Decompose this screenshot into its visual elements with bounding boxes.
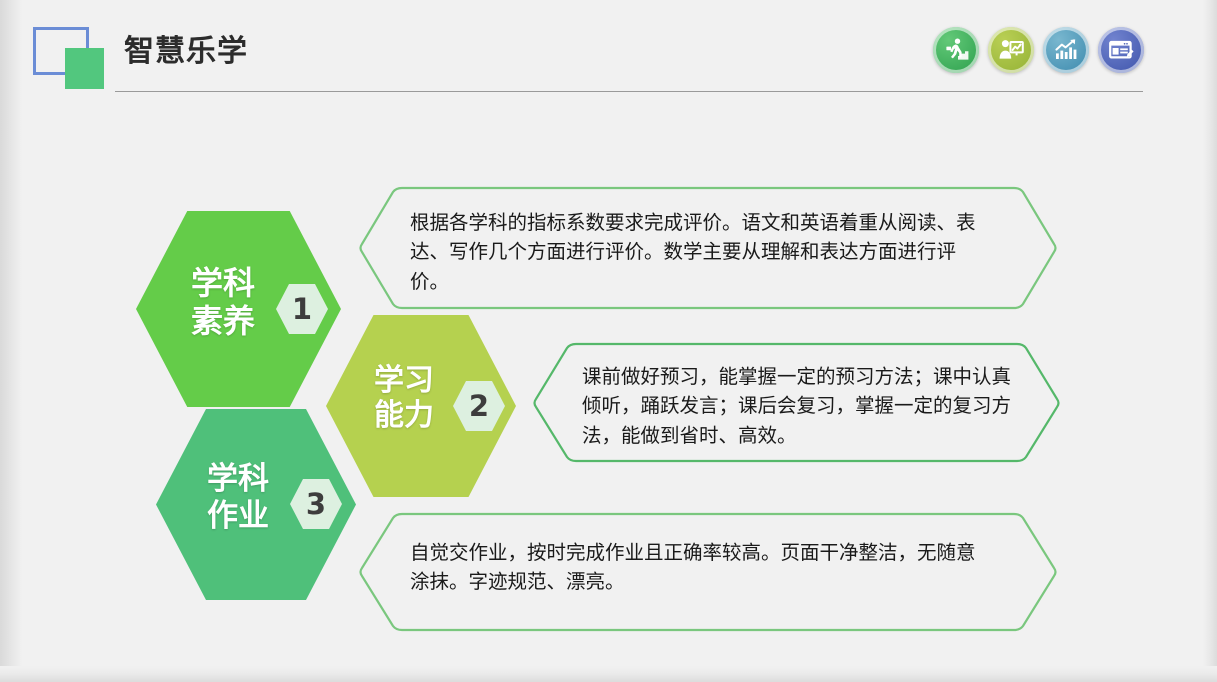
presenter-chart-board-icon[interactable] (988, 27, 1034, 73)
callout-1-text: 根据各学科的指标系数要求完成评价。语文和英语着重从阅读、表达、写作几个方面进行评… (410, 208, 990, 296)
logo-mark (33, 27, 111, 89)
hex-node-1[interactable]: 学科 素养 1 (136, 211, 341, 407)
hex-node-3-label: 学科 作业 (184, 461, 292, 534)
slide-left-edge (0, 0, 22, 682)
slide-right-edge (1203, 0, 1217, 682)
hex-node-1-label: 学科 素养 (168, 265, 278, 341)
form-edit-window-icon[interactable] (1098, 27, 1144, 73)
callout-3-text: 自觉交作业，按时完成作业且正确率较高。页面干净整洁，无随意涂抹。字迹规范、漂亮。 (410, 538, 990, 597)
header-divider (115, 91, 1143, 92)
hex-node-3[interactable]: 学科 作业 3 (156, 409, 356, 600)
slide-bottom-edge (0, 666, 1217, 682)
slide-canvas: 智慧乐学 (0, 0, 1217, 682)
callout-box-3: 自觉交作业，按时完成作业且正确率较高。页面干净整洁，无随意涂抹。字迹规范、漂亮。 (358, 512, 1058, 632)
person-climbing-stairs-icon[interactable] (933, 27, 979, 73)
callout-box-1: 根据各学科的指标系数要求完成评价。语文和英语着重从阅读、表达、写作几个方面进行评… (358, 186, 1058, 310)
header-icon-group (933, 27, 1144, 73)
hex-node-2[interactable]: 学习 能力 2 (326, 315, 516, 497)
hex-node-3-number: 3 (290, 479, 342, 529)
page-title: 智慧乐学 (124, 30, 248, 74)
header: 智慧乐学 (0, 0, 1217, 100)
hex-node-2-label: 学习 能力 (352, 363, 456, 434)
callout-box-2: 课前做好预习，能掌握一定的预习方法；课中认真倾听，踊跃发言；课后会复习，掌握一定… (532, 342, 1061, 463)
growth-bar-chart-icon[interactable] (1043, 27, 1089, 73)
logo-solid-square-icon (65, 48, 104, 89)
callout-2-text: 课前做好预习，能掌握一定的预习方法；课中认真倾听，踊跃发言；课后会复习，掌握一定… (582, 362, 1022, 450)
hex-node-1-number: 1 (276, 284, 328, 334)
hex-node-2-number: 2 (453, 381, 505, 431)
